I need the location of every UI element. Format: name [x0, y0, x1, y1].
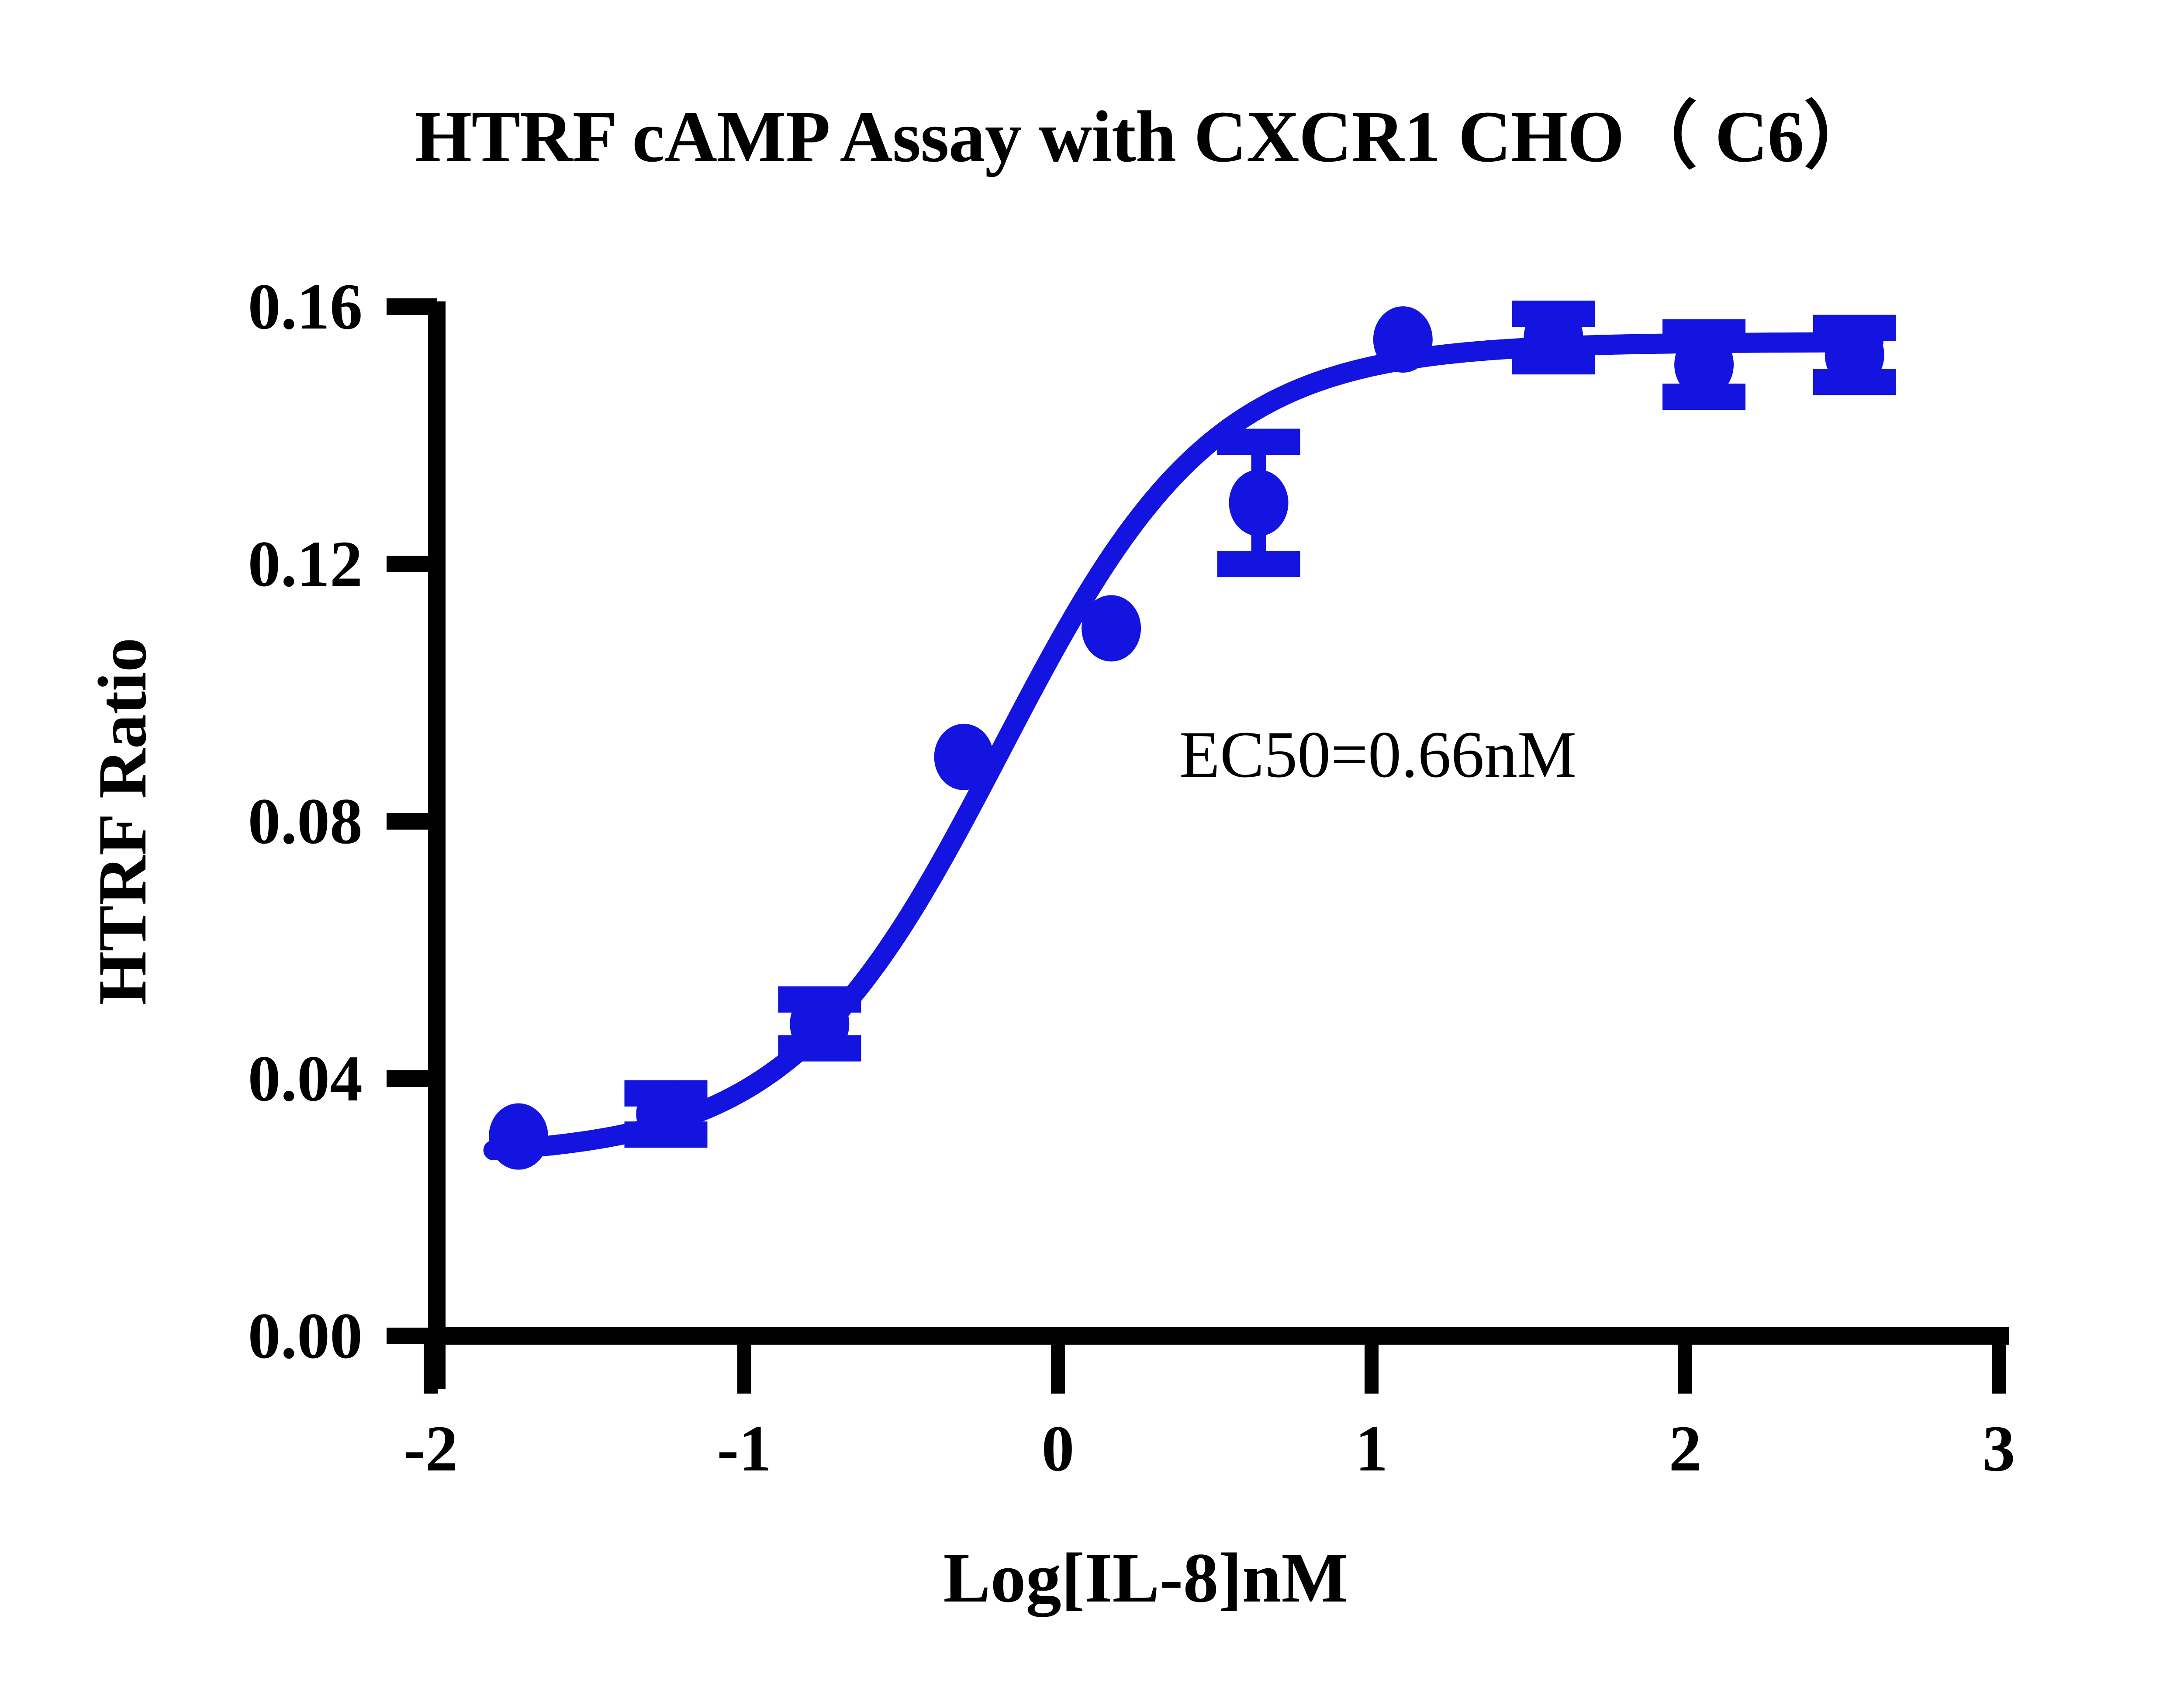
data-point-marker [489, 1104, 548, 1170]
ec50-annotation: EC50=0.66nM [1179, 716, 1576, 792]
x-tick-label: -1 [717, 1411, 772, 1486]
x-tick-label: 1 [1355, 1411, 1388, 1486]
data-point-marker [1082, 595, 1141, 661]
y-tick-label: 0.12 [79, 526, 363, 602]
data-point-marker [1524, 304, 1583, 371]
x-tick-label: 0 [1042, 1411, 1075, 1486]
data-point-marker [1674, 332, 1734, 398]
y-tick-label: 0.16 [79, 269, 363, 344]
x-axis-label: Log[IL-8]nM [0, 1538, 2184, 1619]
y-tick-label: 0.04 [79, 1041, 363, 1116]
data-point-marker [636, 1081, 696, 1147]
data-point-marker [934, 724, 994, 790]
data-point-marker [790, 991, 849, 1057]
data-point-marker [1373, 306, 1433, 373]
data-point-marker [1229, 470, 1289, 536]
y-tick-label: 0.08 [79, 784, 363, 859]
y-tick-label: 0.00 [79, 1298, 363, 1373]
chart-canvas: HTRF cAMP Assay with CXCR1 CHO（ C6） HTRF… [0, 0, 2184, 1702]
x-tick-label: 3 [1983, 1411, 2015, 1486]
x-tick-label: 2 [1669, 1411, 1702, 1486]
x-tick-label: -2 [404, 1411, 458, 1486]
data-point-marker [1825, 322, 1884, 388]
